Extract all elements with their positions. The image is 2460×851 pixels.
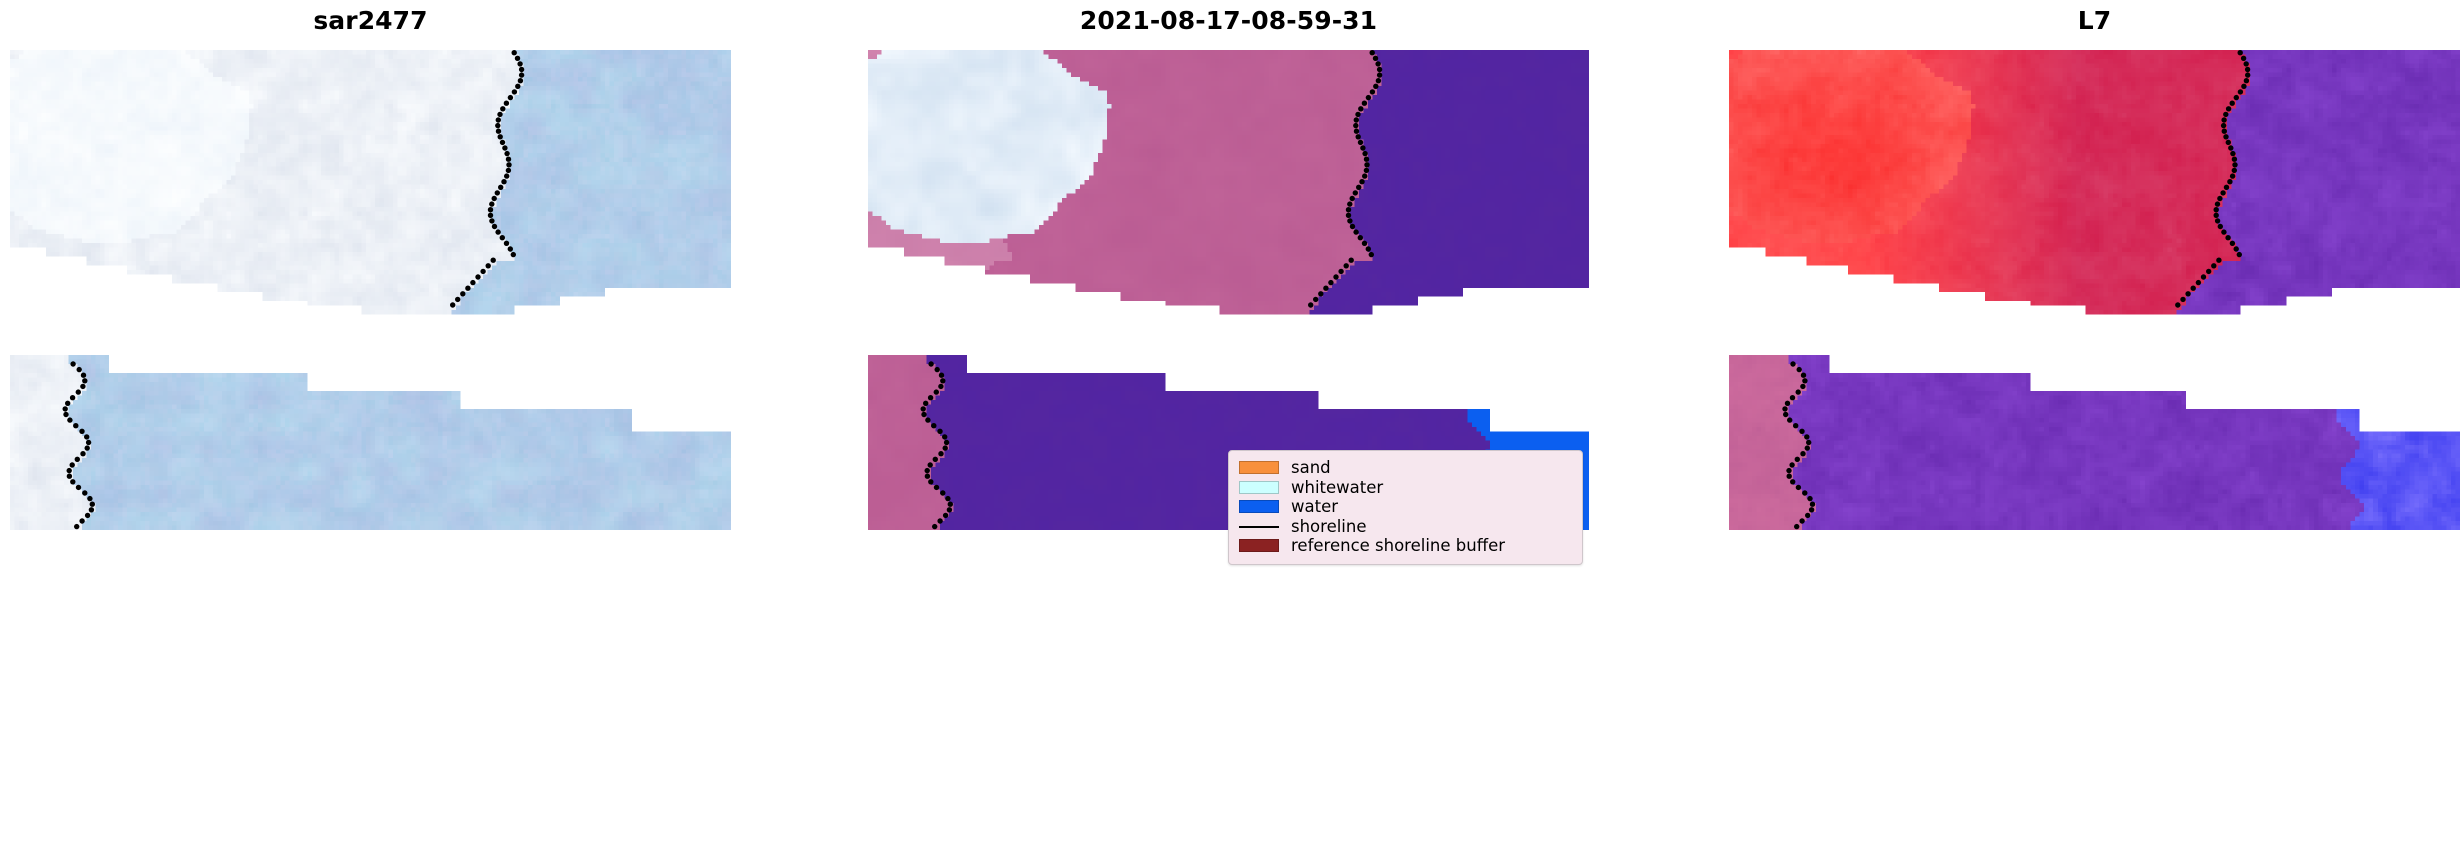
panel-title-classified: 2021-08-17-08-59-31 xyxy=(868,6,1589,36)
raster-l7 xyxy=(1729,50,2460,530)
legend-item-water: water xyxy=(1239,497,1572,517)
legend-label-water: water xyxy=(1291,497,1338,516)
legend-item-whitewater: whitewater xyxy=(1239,478,1572,498)
legend-swatch-reference-shoreline-buffer xyxy=(1239,539,1279,552)
panel-title-l7: L7 xyxy=(1729,6,2460,36)
legend-swatch-whitewater xyxy=(1239,481,1279,494)
raster-sar2477 xyxy=(10,50,731,530)
panel-classified: 2021-08-17-08-59-31 xyxy=(868,0,1589,851)
legend-swatch-sand xyxy=(1239,461,1279,474)
legend-label-sand: sand xyxy=(1291,458,1331,477)
legend: sand whitewater water shoreline referenc… xyxy=(1228,450,1583,565)
legend-item-reference-shoreline-buffer: reference shoreline buffer xyxy=(1239,536,1572,556)
legend-label-reference-shoreline-buffer: reference shoreline buffer xyxy=(1291,536,1505,555)
axes-sar2477 xyxy=(10,50,731,530)
legend-swatch-water xyxy=(1239,500,1279,513)
legend-label-shoreline: shoreline xyxy=(1291,517,1367,536)
axes-l7 xyxy=(1729,50,2460,530)
panel-title-sar2477: sar2477 xyxy=(10,6,731,36)
legend-line-shoreline xyxy=(1239,520,1279,533)
legend-item-shoreline: shoreline xyxy=(1239,517,1572,537)
legend-item-sand: sand xyxy=(1239,458,1572,478)
figure-canvas: sar2477 2021-08-17-08-59-31 L7 xyxy=(0,0,2460,851)
panel-sar2477: sar2477 xyxy=(10,0,731,851)
legend-label-whitewater: whitewater xyxy=(1291,478,1383,497)
panel-l7: L7 xyxy=(1729,0,2460,851)
